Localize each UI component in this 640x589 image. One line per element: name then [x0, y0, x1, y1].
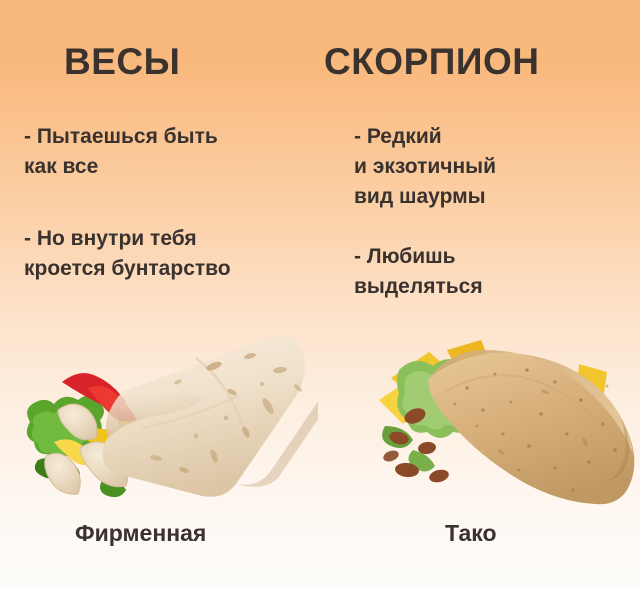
caption-left-food: Фирменная — [75, 518, 206, 548]
caption-right-food: Тако — [445, 518, 497, 548]
tortilla-wrap — [103, 337, 318, 497]
shawarma-wrap-photo — [18, 330, 318, 510]
headings-row: ВЕСЫ СКОРПИОН — [0, 38, 640, 94]
bullet-right-2: - Любишь выделяться — [354, 242, 640, 302]
hard-shell-taco-photo — [355, 330, 640, 510]
meme-image: ВЕСЫ СКОРПИОН - Пытаешься быть как все -… — [0, 0, 640, 589]
shawarma-wrap-illustration — [18, 330, 318, 510]
text-column-right: - Редкий и экзотичный вид шаурмы - Любиш… — [354, 122, 640, 302]
text-column-left: - Пытаешься быть как все - Но внутри теб… — [24, 122, 334, 284]
bullet-left-2: - Но внутри тебя кроется бунтарство — [24, 224, 334, 284]
bullet-right-1: - Редкий и экзотичный вид шаурмы — [354, 122, 640, 212]
food-images-row — [0, 330, 640, 510]
bullet-left-1: - Пытаешься быть как все — [24, 122, 334, 182]
taco-illustration — [355, 330, 640, 510]
heading-left-zodiac: ВЕСЫ — [64, 38, 180, 86]
heading-right-zodiac: СКОРПИОН — [324, 38, 539, 86]
